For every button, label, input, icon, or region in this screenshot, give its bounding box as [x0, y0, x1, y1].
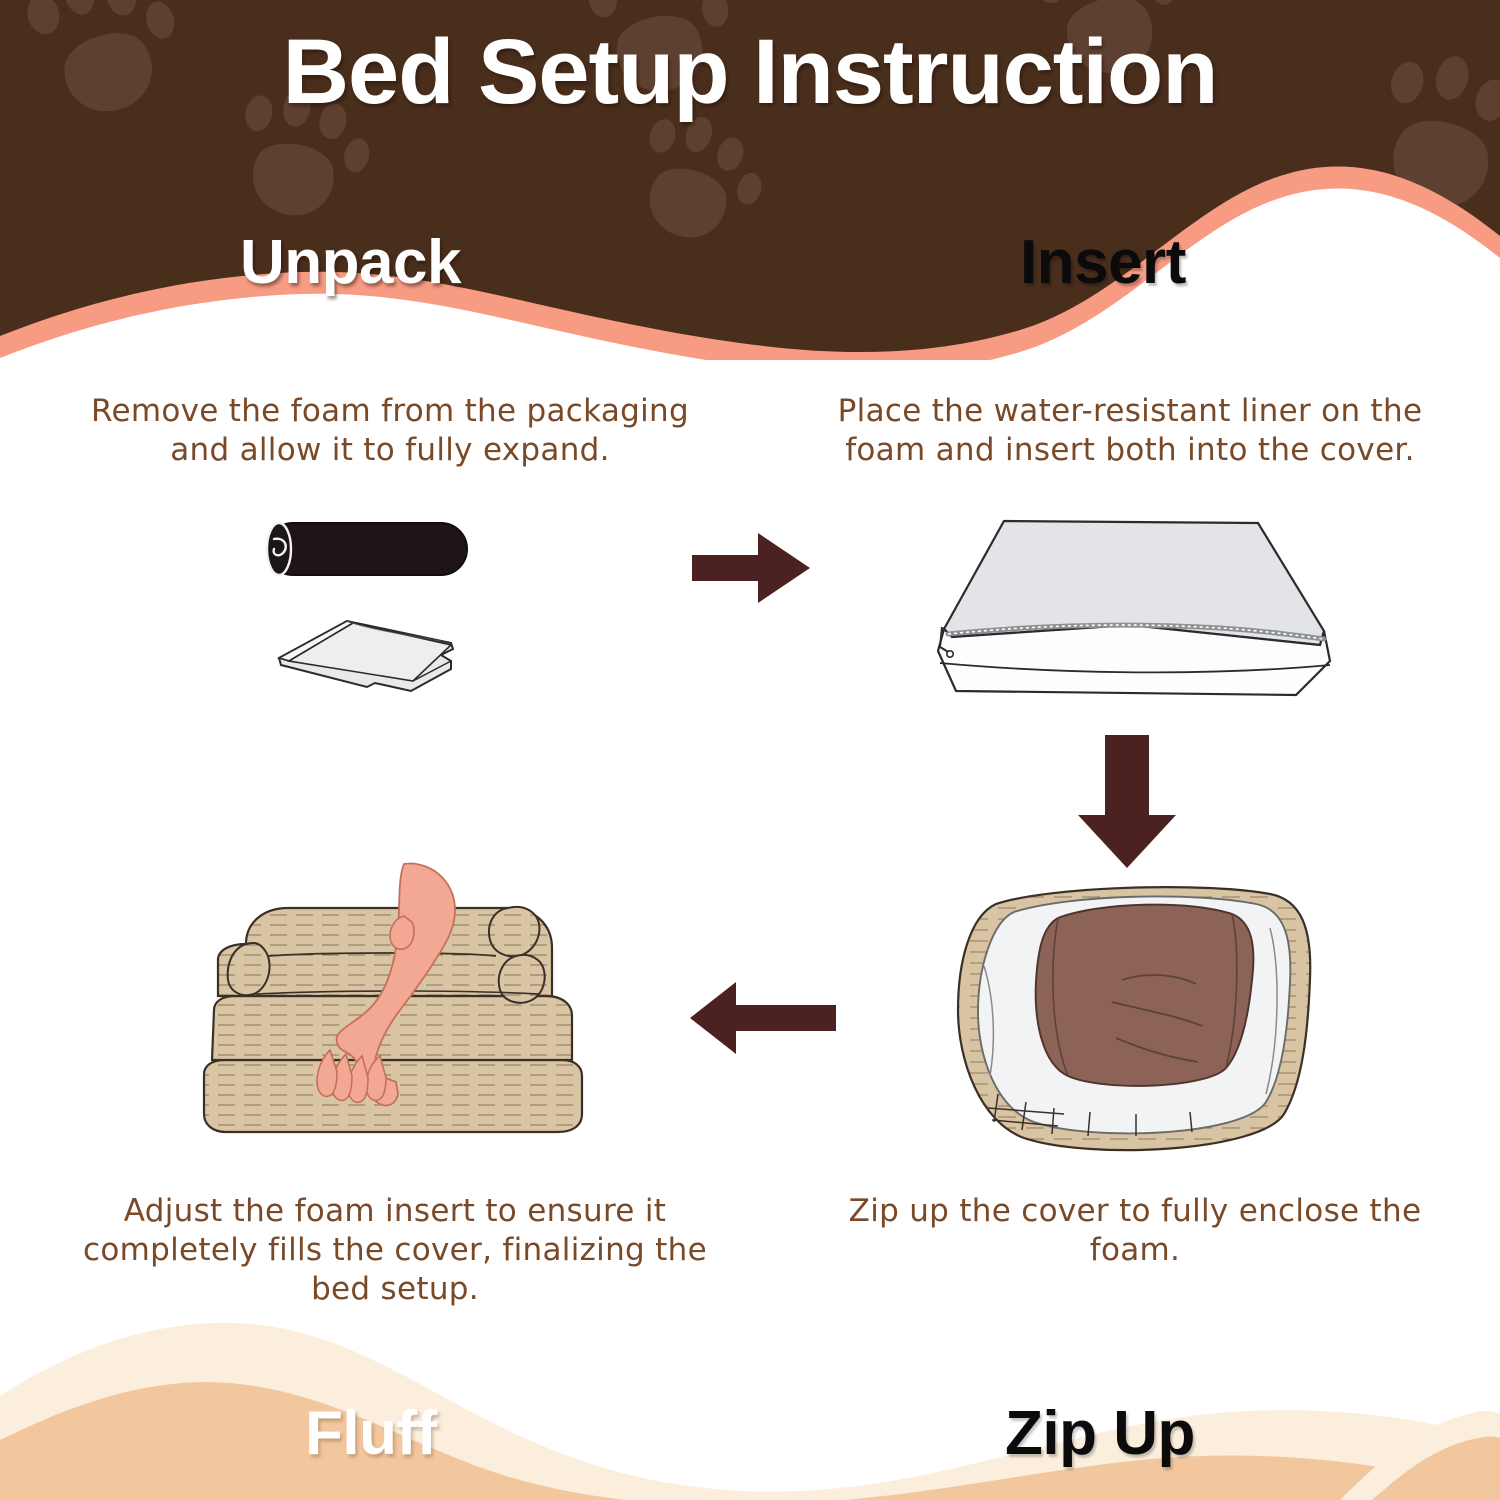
illustration-unpack	[255, 515, 635, 760]
arrow-left-icon	[688, 978, 838, 1063]
folded-liner-icon	[279, 621, 453, 691]
rolled-foam-icon	[267, 523, 467, 575]
dog-bed-with-hand-icon	[204, 864, 582, 1132]
illustration-zipup	[940, 870, 1360, 1175]
footer-graphic	[0, 1310, 1500, 1500]
step-label-fluff: Fluff	[305, 1398, 437, 1469]
caption-insert: Place the water-resistant liner on the f…	[800, 392, 1460, 470]
step-label-unpack: Unpack	[240, 227, 461, 298]
step-label-insert: Insert	[1020, 227, 1186, 298]
illustration-insert	[900, 505, 1340, 720]
step-label-zipup: Zip Up	[1005, 1398, 1195, 1469]
instruction-poster: Bed Setup Instruction Unpack Insert Remo…	[0, 0, 1500, 1500]
caption-zipup: Zip up the cover to fully enclose the fo…	[800, 1192, 1470, 1270]
arrow-down-icon	[1072, 735, 1182, 875]
bed-cover-with-foam-icon	[958, 887, 1310, 1150]
arrow-right-icon	[692, 528, 812, 613]
paw-print-icon	[1369, 223, 1500, 360]
zippered-cushion-icon	[938, 521, 1330, 695]
page-title: Bed Setup Instruction	[0, 20, 1500, 125]
footer-band	[0, 1310, 1500, 1500]
caption-fluff: Adjust the foam insert to ensure it comp…	[55, 1192, 735, 1308]
caption-unpack: Remove the foam from the packaging and a…	[60, 392, 720, 470]
illustration-fluff	[190, 860, 610, 1185]
